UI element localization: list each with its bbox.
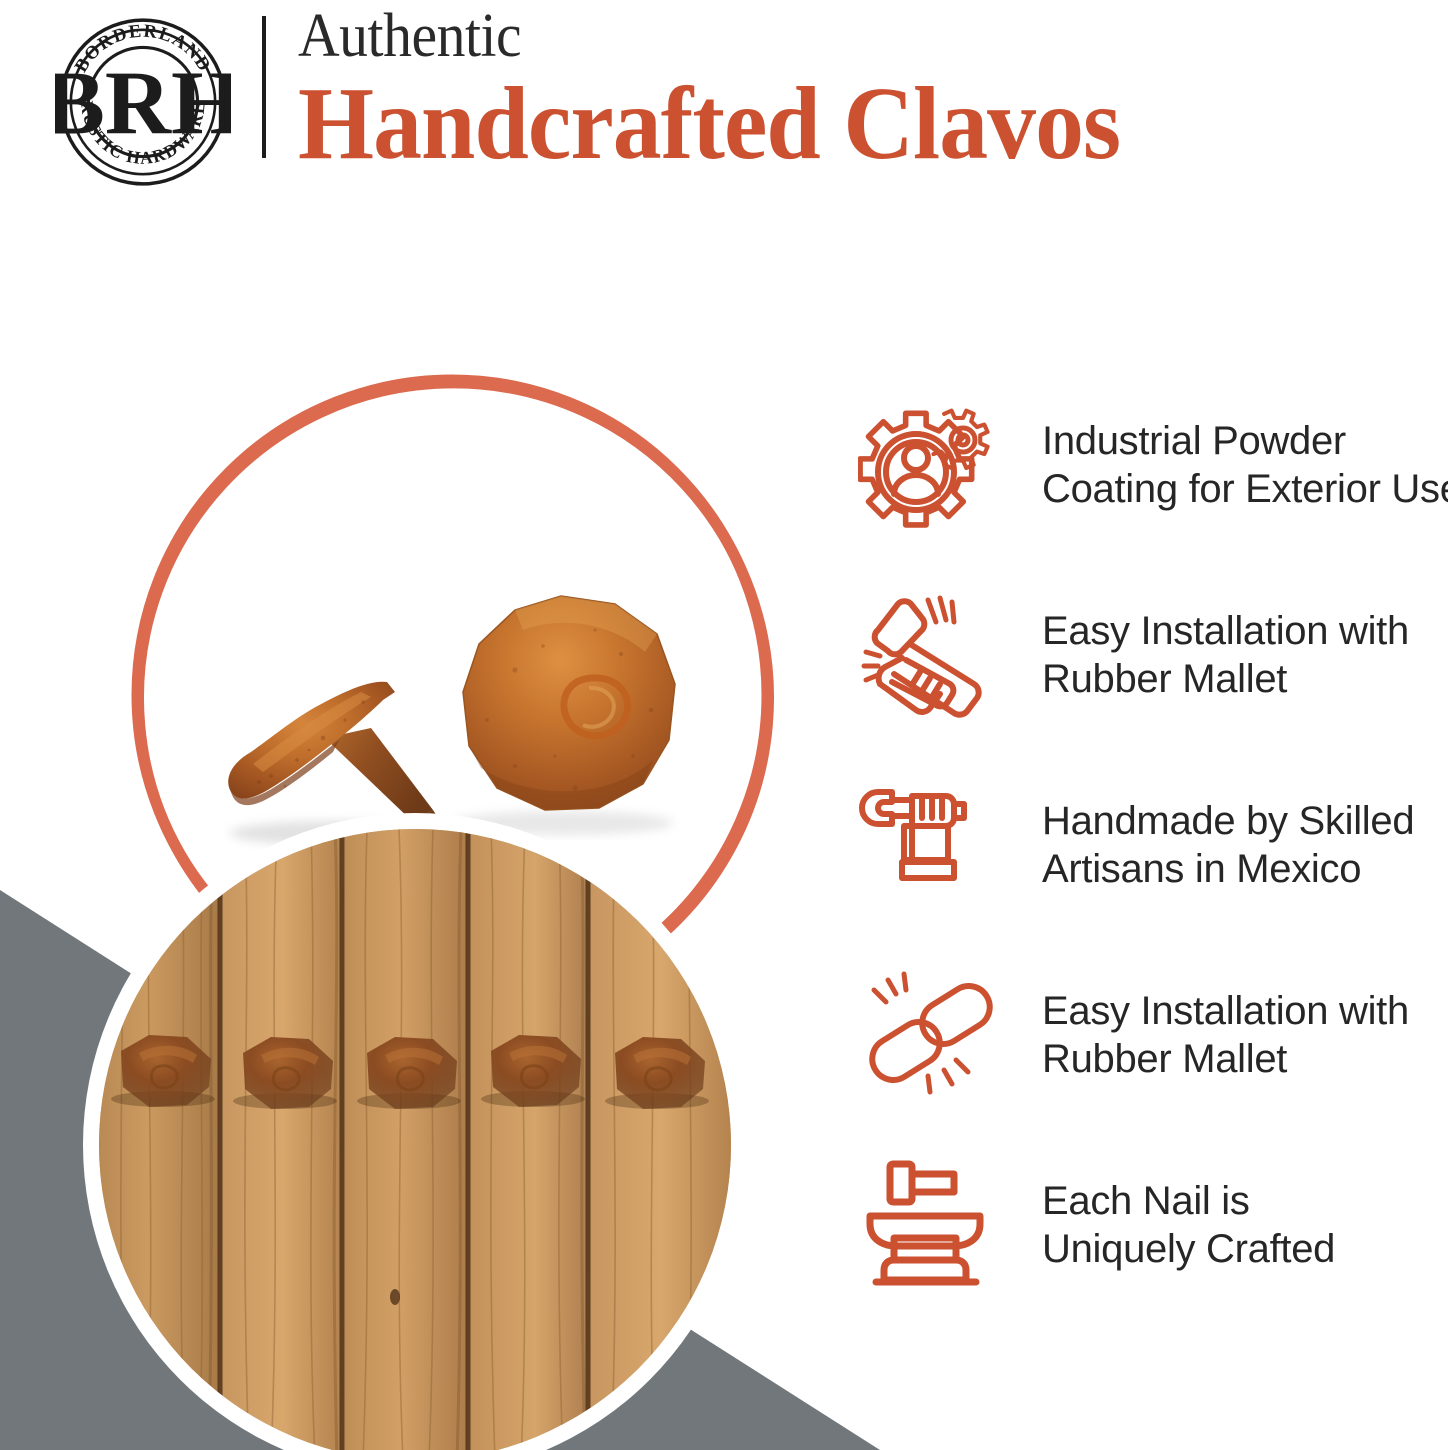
feature-line: Easy Installation with [1042,607,1448,655]
feature-item: Easy Installation with Rubber Mallet [858,560,1448,750]
chain-links-icon [858,960,1008,1110]
feature-line: Rubber Mallet [1042,655,1448,703]
feature-label: Each Nail is Uniquely Crafted [1008,1177,1448,1273]
feature-line: Handmade by Skilled [1042,797,1448,845]
feature-item: Each Nail is Uniquely Crafted [858,1130,1448,1320]
clavo-side-view [228,682,441,822]
anvil-hammer-icon [858,1150,1008,1300]
page-title-line2: Handcrafted Clavos [298,68,1370,180]
feature-item: Handmade by Skilled Artisans in Mexico [858,750,1448,940]
brand-logo-seal: BORDERLAND RUSTIC HARDWARE BRH [55,14,231,190]
feature-line: Rubber Mallet [1042,1035,1448,1083]
product-visual-column [0,200,860,1450]
wood-door-photo-wrapper [85,815,745,1450]
feature-item: Industrial Powder Coating for Exterior U… [858,370,1448,560]
gear-person-icon [858,390,1008,540]
header-divider [262,16,266,158]
feature-item: Easy Installation with Rubber Mallet [858,940,1448,1130]
wood-photo-circle [99,829,731,1450]
clavo-top-view [463,596,675,810]
title-block: Authentic Handcrafted Clavos [298,2,1438,180]
feature-line: Each Nail is [1042,1177,1448,1225]
feature-line: Artisans in Mexico [1042,845,1448,893]
header: BORDERLAND RUSTIC HARDWARE BRH Authentic… [0,0,1448,190]
feature-label: Handmade by Skilled Artisans in Mexico [1008,797,1448,893]
page-title-line1: Authentic [298,2,1358,70]
hand-mallet-icon [858,580,1008,730]
feature-line: Uniquely Crafted [1042,1225,1448,1273]
infographic-page: BORDERLAND RUSTIC HARDWARE BRH Authentic… [0,0,1448,1450]
feature-label: Industrial Powder Coating for Exterior U… [1008,417,1448,513]
feature-line: Industrial Powder [1042,417,1448,465]
feature-line: Coating for Exterior Use [1042,465,1448,513]
feature-list: Industrial Powder Coating for Exterior U… [858,370,1448,1320]
feature-label: Easy Installation with Rubber Mallet [1008,607,1448,703]
fist-wrench-icon [858,770,1008,920]
wood-planks-graphic [99,829,731,1450]
feature-line: Easy Installation with [1042,987,1448,1035]
logo-monogram: BRH [55,52,231,154]
feature-label: Easy Installation with Rubber Mallet [1008,987,1448,1083]
